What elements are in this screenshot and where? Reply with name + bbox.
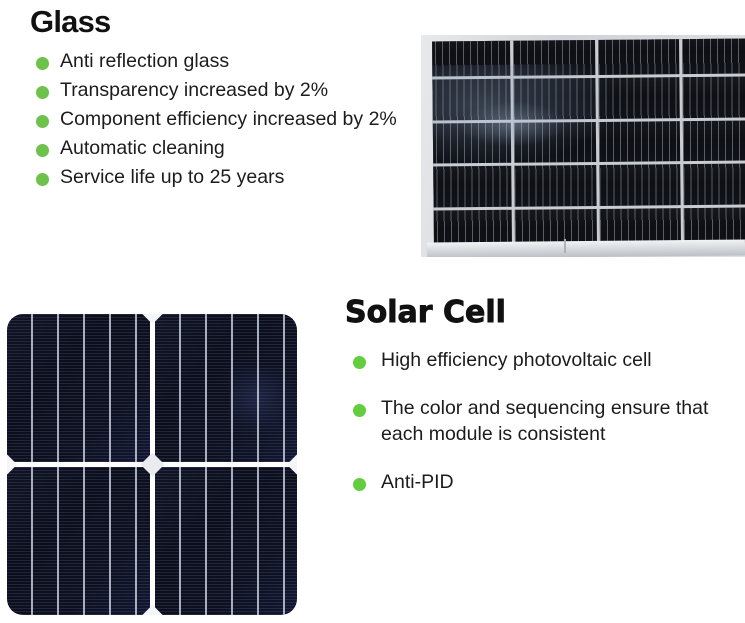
panel-cell [598,121,680,163]
green-dot-bullet-icon [353,356,366,369]
list-item-label: Anti-PID [381,471,454,493]
panel-cell [432,166,511,208]
panel-cell [514,165,596,207]
panel-rail-seam [563,239,565,253]
list-item: The color and sequencing ensure that eac… [345,396,745,448]
panel-cell [432,38,510,76]
list-item: Anti reflection glass [30,49,430,75]
list-item-label: Service life up to 25 years [60,166,284,188]
list-item: Service life up to 25 years [30,165,430,191]
cell-blue-cast [229,367,297,435]
glass-feature-block: Glass Anti reflection glass Transparency… [30,6,430,194]
list-item: Component efficiency increased by 2% [30,107,430,133]
list-item: Anti-PID [345,470,745,496]
list-item: Automatic cleaning [30,136,430,162]
panel-cell [683,120,745,162]
panel-cell [683,164,745,206]
green-dot-bullet-icon [36,173,49,186]
panel-cell-grid [432,38,745,245]
panel-cell [432,79,511,121]
panel-laminate [432,38,745,245]
panel-cell [682,38,745,73]
list-item-label: Component efficiency increased by 2% [60,108,397,130]
panel-cell [514,122,596,164]
green-dot-bullet-icon [36,57,49,70]
panel-cell [599,165,681,207]
mono-cell [7,467,150,615]
green-dot-bullet-icon [36,115,49,128]
list-item-label: Transparency increased by 2% [60,79,328,101]
solar-cell-closeup-photo [7,314,297,615]
feature-infographic-page: Glass Anti reflection glass Transparency… [0,0,745,623]
mono-cell [7,314,150,462]
list-item-label: High efficiency photovoltaic cell [381,349,652,371]
panel-cell [432,122,511,164]
green-dot-bullet-icon [353,404,366,417]
cell-quad-grid [7,314,297,615]
glass-feature-list: Anti reflection glass Transparency incre… [30,49,430,191]
green-dot-bullet-icon [36,86,49,99]
list-item: High efficiency photovoltaic cell [345,348,745,374]
list-item-label: The color and sequencing ensure that eac… [381,397,708,445]
panel-cell [597,38,679,74]
mono-cell [155,314,298,462]
panel-bottom-rail [427,239,745,257]
glass-section-title: Glass [30,6,430,37]
solar-cell-feature-block: Solar Cell High efficiency photovoltaic … [345,298,745,518]
green-dot-bullet-icon [36,144,49,157]
list-item: Transparency increased by 2% [30,78,430,104]
panel-cell [513,78,595,120]
panel-cell [683,76,745,118]
panel-cell [432,210,512,246]
panel-cell [598,77,680,119]
panel-cell [513,38,595,75]
green-dot-bullet-icon [353,478,366,491]
solar-cell-section-title: Solar Cell [345,298,745,328]
list-item-label: Anti reflection glass [60,50,229,72]
mono-cell [155,467,298,615]
solar-cell-feature-list: High efficiency photovoltaic cell The co… [345,348,745,496]
solar-panel-module-photo [421,35,745,257]
list-item-label: Automatic cleaning [60,137,225,159]
